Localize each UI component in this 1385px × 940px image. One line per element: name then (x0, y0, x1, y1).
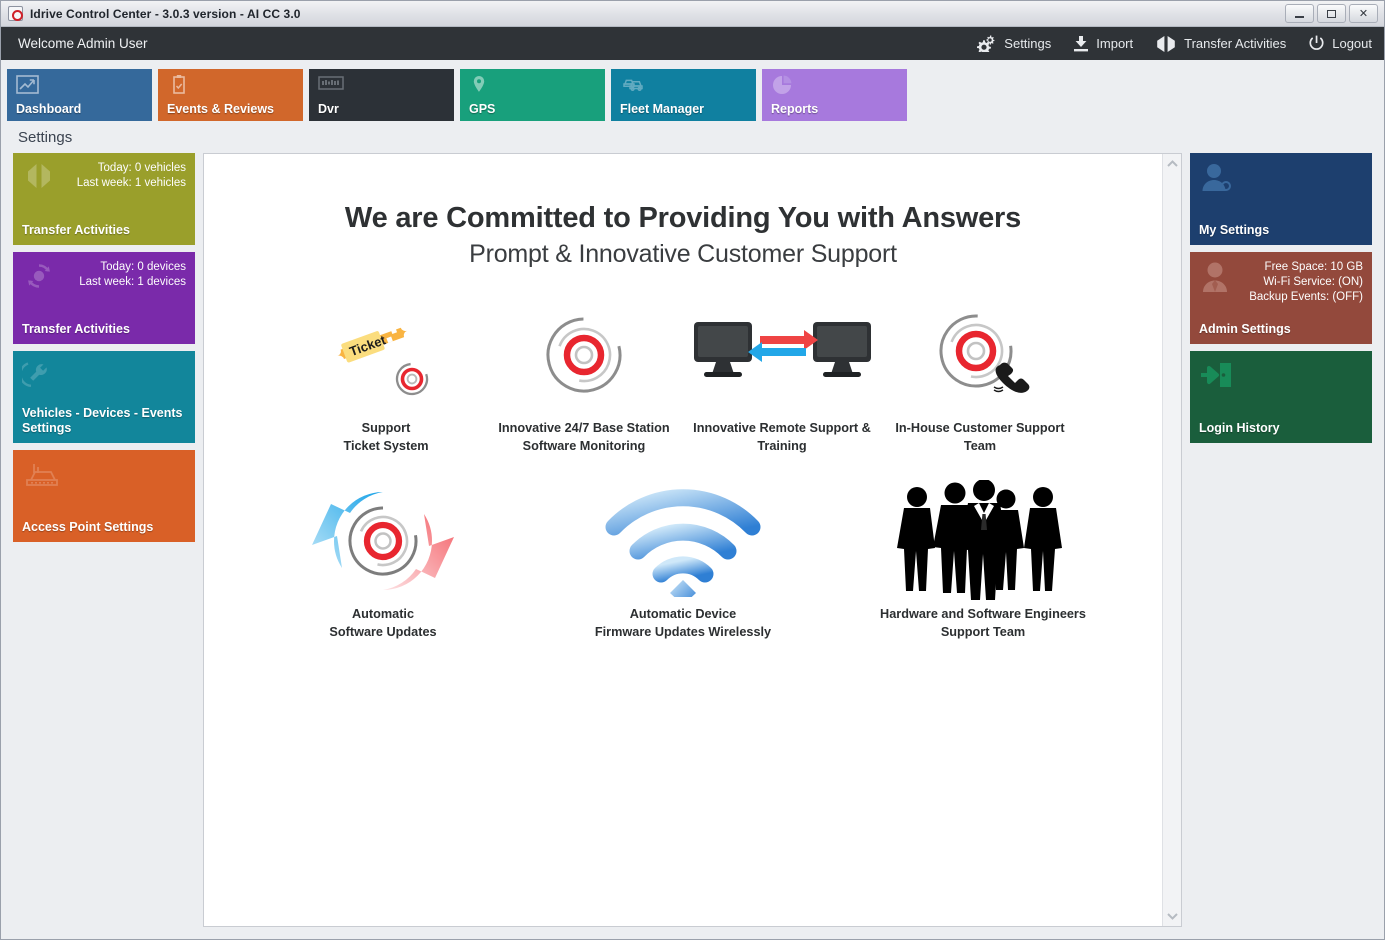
tab-dvr-label: Dvr (318, 102, 339, 116)
window-title: Idrive Control Center - 3.0.3 version - … (30, 7, 301, 21)
auto-update-icon (233, 489, 533, 593)
download-icon (1073, 35, 1089, 52)
tab-dashboard-label: Dashboard (16, 102, 81, 116)
tab-gps[interactable]: GPS (460, 69, 605, 121)
support-ticket-icon: Ticket (287, 303, 485, 407)
tile-title: Access Point Settings (22, 520, 186, 535)
dvr-icon (318, 74, 344, 99)
tab-dashboard[interactable]: Dashboard (7, 69, 152, 121)
top-actions: Settings Import (977, 35, 1372, 53)
tile-stat-line: Backup Events: (OFF) (1199, 290, 1363, 305)
logout-label: Logout (1332, 36, 1372, 51)
tile-title: Vehicles - Devices - Events Settings (22, 406, 186, 436)
tile-login-history[interactable]: Login History (1190, 351, 1372, 443)
feature-automatic-software-updates: AutomaticSoftware Updates (233, 489, 533, 641)
tile-title: Login History (1199, 421, 1363, 436)
clipboard-check-icon (167, 74, 191, 101)
tile-stats: Today: 0 devices Last week: 1 devices (22, 260, 186, 290)
scroll-down-arrow-icon[interactable] (1167, 913, 1178, 920)
tile-admin-settings[interactable]: Free Space: 10 GB Wi-Fi Service: (ON) Ba… (1190, 252, 1372, 344)
tile-stat-line: Wi-Fi Service: (ON) (1199, 275, 1363, 290)
tile-title: My Settings (1199, 223, 1363, 238)
breadcrumb-label: Settings (18, 129, 72, 146)
tile-stats: Free Space: 10 GB Wi-Fi Service: (ON) Ba… (1199, 260, 1363, 305)
module-tabs: Dashboard Events & Reviews (1, 69, 1384, 121)
feature-caption: In-House Customer SupportTeam (895, 419, 1064, 455)
feature-caption: Innovative 24/7 Base StationSoftware Mon… (498, 419, 669, 455)
tile-transfer-activities-devices[interactable]: Today: 0 devices Last week: 1 devices Tr… (13, 252, 195, 344)
application-window: Idrive Control Center - 3.0.3 version - … (0, 0, 1385, 940)
tile-title: Transfer Activities (22, 223, 186, 238)
app-logo-icon (8, 6, 23, 21)
user-settings-icon (1199, 161, 1233, 200)
feature-support-ticket-system: Ticket SupportTicket System (287, 303, 485, 455)
tile-stats: Today: 0 vehicles Last week: 1 vehicles (22, 161, 186, 191)
target-ring-icon (485, 303, 683, 407)
welcome-label: Welcome Admin User (18, 36, 148, 51)
vehicles-icon (620, 74, 648, 99)
remote-monitors-icon (683, 303, 881, 407)
target-phone-icon (881, 303, 1079, 407)
gears-icon (977, 35, 997, 52)
tab-reports[interactable]: Reports (762, 69, 907, 121)
login-door-icon (1199, 359, 1233, 396)
tab-fleet-manager[interactable]: Fleet Manager (611, 69, 756, 121)
feature-caption: AutomaticSoftware Updates (329, 605, 436, 641)
feature-engineers-support-team: Hardware and Software EngineersSupport T… (833, 489, 1133, 641)
title-bar: Idrive Control Center - 3.0.3 version - … (1, 1, 1384, 27)
tile-stat-line: Last week: 1 devices (22, 275, 186, 290)
feature-firmware-updates-wireless: Automatic DeviceFirmware Updates Wireles… (533, 489, 833, 641)
transfer-arrows-icon (1155, 35, 1177, 53)
pie-chart-icon (771, 74, 793, 101)
tab-gps-label: GPS (469, 102, 495, 116)
tile-vehicles-devices-events-settings[interactable]: Vehicles - Devices - Events Settings (13, 351, 195, 443)
feature-remote-support-training: Innovative Remote Support &Training (683, 303, 881, 455)
router-icon (22, 458, 62, 493)
tile-stat-line: Free Space: 10 GB (1199, 260, 1363, 275)
content-scrollbar[interactable] (1162, 154, 1181, 926)
close-button[interactable]: ✕ (1349, 4, 1378, 23)
tab-fleet-manager-label: Fleet Manager (620, 102, 704, 116)
power-icon (1308, 35, 1325, 52)
transfer-activities-label: Transfer Activities (1184, 36, 1286, 51)
content-canvas: We are Committed to Providing You with A… (204, 154, 1162, 926)
tile-my-settings[interactable]: My Settings (1190, 153, 1372, 245)
import-label: Import (1096, 36, 1133, 51)
logout-button[interactable]: Logout (1308, 35, 1372, 52)
tile-title: Admin Settings (1199, 322, 1363, 337)
tile-stat-line: Last week: 1 vehicles (22, 176, 186, 191)
map-pin-icon (469, 74, 489, 101)
tile-title: Transfer Activities (22, 322, 186, 337)
breadcrumb: Settings (1, 121, 1384, 153)
feature-row-1: Ticket SupportTicket System (224, 303, 1142, 455)
content-panel: We are Committed to Providing You with A… (203, 153, 1182, 927)
content-subheadline: Prompt & Innovative Customer Support (224, 240, 1142, 269)
transfer-activities-button[interactable]: Transfer Activities (1155, 35, 1286, 53)
right-tile-column: My Settings Free Space: 10 GB Wi-Fi Serv… (1190, 153, 1372, 927)
tab-events-reviews[interactable]: Events & Reviews (158, 69, 303, 121)
import-button[interactable]: Import (1073, 35, 1133, 52)
feature-in-house-support-team: In-House Customer SupportTeam (881, 303, 1079, 455)
feature-caption: Innovative Remote Support &Training (693, 419, 871, 455)
top-action-bar: Welcome Admin User Settings (1, 27, 1384, 60)
tab-events-reviews-label: Events & Reviews (167, 102, 274, 116)
settings-label: Settings (1004, 36, 1051, 51)
tile-stat-line: Today: 0 devices (22, 260, 186, 275)
feature-caption: Hardware and Software EngineersSupport T… (880, 605, 1086, 641)
window-controls: ✕ (1285, 4, 1382, 23)
tile-stat-line: Today: 0 vehicles (22, 161, 186, 176)
tile-transfer-activities-vehicles[interactable]: Today: 0 vehicles Last week: 1 vehicles … (13, 153, 195, 245)
team-silhouette-icon (833, 489, 1133, 593)
feature-base-station-monitoring: Innovative 24/7 Base StationSoftware Mon… (485, 303, 683, 455)
tile-access-point-settings[interactable]: Access Point Settings (13, 450, 195, 542)
feature-row-2: AutomaticSoftware Updates (224, 489, 1142, 641)
page-body: Today: 0 vehicles Last week: 1 vehicles … (1, 153, 1384, 939)
settings-button[interactable]: Settings (977, 35, 1051, 52)
scroll-up-arrow-icon[interactable] (1167, 160, 1178, 167)
minimize-button[interactable] (1285, 4, 1314, 23)
content-headline: We are Committed to Providing You with A… (224, 202, 1142, 235)
tab-reports-label: Reports (771, 102, 818, 116)
tab-dvr[interactable]: Dvr (309, 69, 454, 121)
maximize-button[interactable] (1317, 4, 1346, 23)
chart-trend-icon (16, 74, 40, 101)
feature-caption: Automatic DeviceFirmware Updates Wireles… (595, 605, 771, 641)
wrench-icon (22, 359, 56, 396)
wifi-icon (533, 489, 833, 593)
left-tile-column: Today: 0 vehicles Last week: 1 vehicles … (13, 153, 195, 927)
feature-caption: SupportTicket System (343, 419, 428, 455)
